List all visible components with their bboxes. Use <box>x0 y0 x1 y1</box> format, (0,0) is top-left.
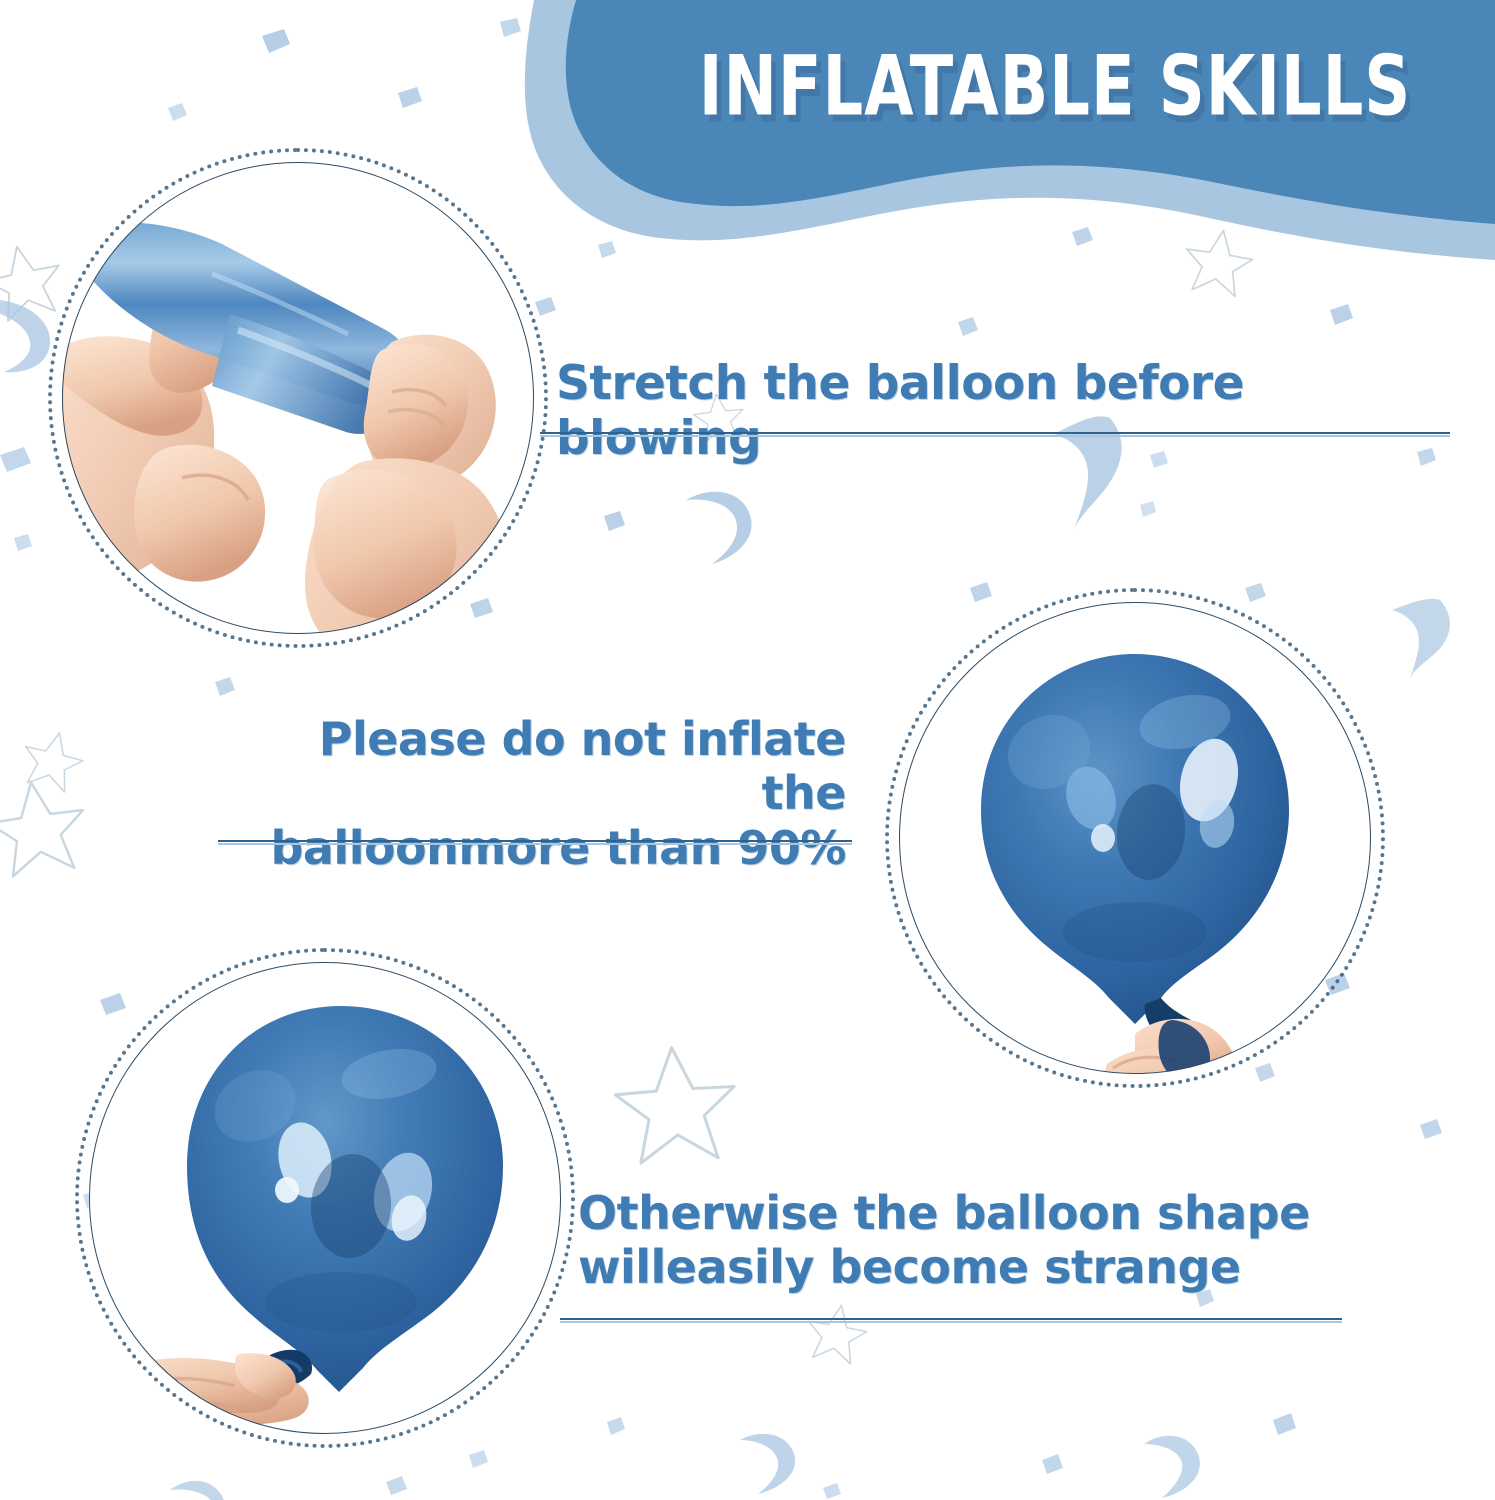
dotted-ring <box>75 948 575 1448</box>
step-1-rule <box>540 432 1450 436</box>
step-2-caption: Please do not inflate the balloonmore th… <box>230 712 846 875</box>
step-3-caption-line-2: willeasily become strange <box>578 1240 1340 1294</box>
step-1-caption-line-1: Stretch the balloon before blowing <box>556 356 1456 467</box>
dotted-ring <box>48 148 548 648</box>
step-3-photo-frame <box>75 948 575 1448</box>
dotted-ring <box>885 588 1385 1088</box>
step-2-rule <box>218 840 852 844</box>
page-title: INFLATABLE SKILLS <box>665 46 1445 129</box>
step-2-photo-frame <box>885 588 1385 1088</box>
step-2-caption-line-2: balloonmore than 90% <box>230 821 846 875</box>
step-3-caption: Otherwise the balloon shape willeasily b… <box>578 1186 1340 1295</box>
infographic-page: INFLATABLE SKILLS <box>0 0 1495 1500</box>
step-1-caption: Stretch the balloon before blowing <box>556 356 1456 467</box>
step-1-photo-frame <box>48 148 548 648</box>
step-3-caption-line-1: Otherwise the balloon shape <box>578 1186 1340 1240</box>
step-2-caption-line-1: Please do not inflate the <box>230 712 846 821</box>
step-3-rule <box>560 1318 1342 1322</box>
